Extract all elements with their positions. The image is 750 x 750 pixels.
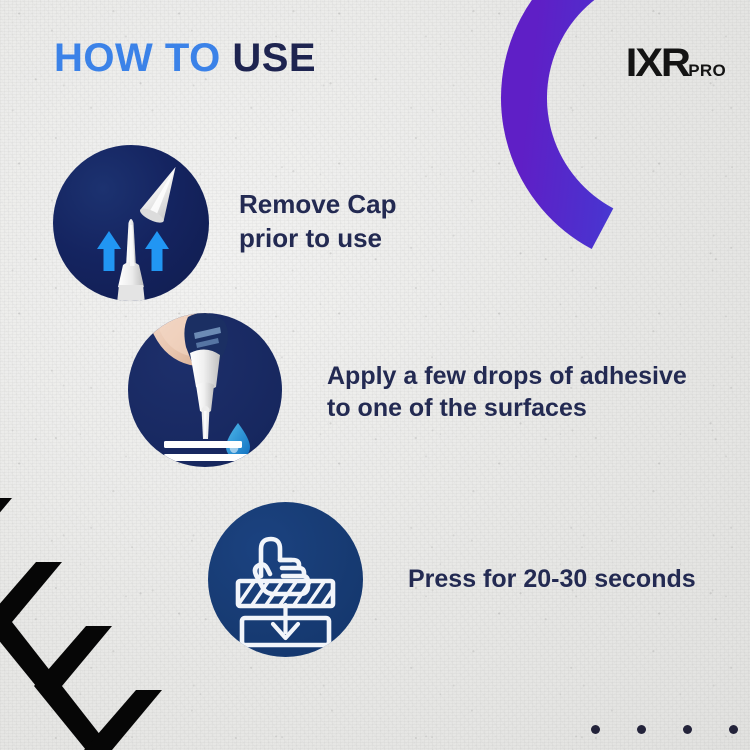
step-2-text: Apply a few drops of adhesive to one of …: [327, 360, 687, 425]
step-item-2: Apply a few drops of adhesive to one of …: [128, 313, 687, 467]
brand-logo-suffix: PRO: [688, 62, 726, 82]
poster-canvas: HOW TO USE IXR PRO: [0, 0, 750, 750]
pagination-dot-3[interactable]: [683, 725, 692, 734]
pagination-dot-1[interactable]: [591, 725, 600, 734]
step-1-icon-circle: [53, 145, 209, 301]
pagination-dots[interactable]: [591, 725, 738, 734]
step-3-icon-circle: [208, 502, 363, 657]
brand-logo-mark: IXR: [625, 44, 688, 82]
remove-cap-icon: [53, 145, 209, 301]
brand-logo: IXR PRO: [627, 44, 726, 82]
step-3-text: Press for 20-30 seconds: [408, 563, 696, 596]
pagination-dot-4[interactable]: [729, 725, 738, 734]
press-down-icon: [208, 502, 363, 657]
step-1-text: Remove Cap prior to use: [239, 188, 397, 256]
page-title-part-a: HOW TO: [54, 36, 232, 80]
step-item-1: Remove Cap prior to use: [53, 145, 397, 301]
pagination-dot-2[interactable]: [637, 725, 646, 734]
diagonal-chevron-stripes: [0, 410, 200, 750]
page-title: HOW TO USE: [54, 38, 316, 78]
step-item-3: Press for 20-30 seconds: [208, 502, 696, 657]
page-title-part-b: USE: [232, 36, 316, 80]
